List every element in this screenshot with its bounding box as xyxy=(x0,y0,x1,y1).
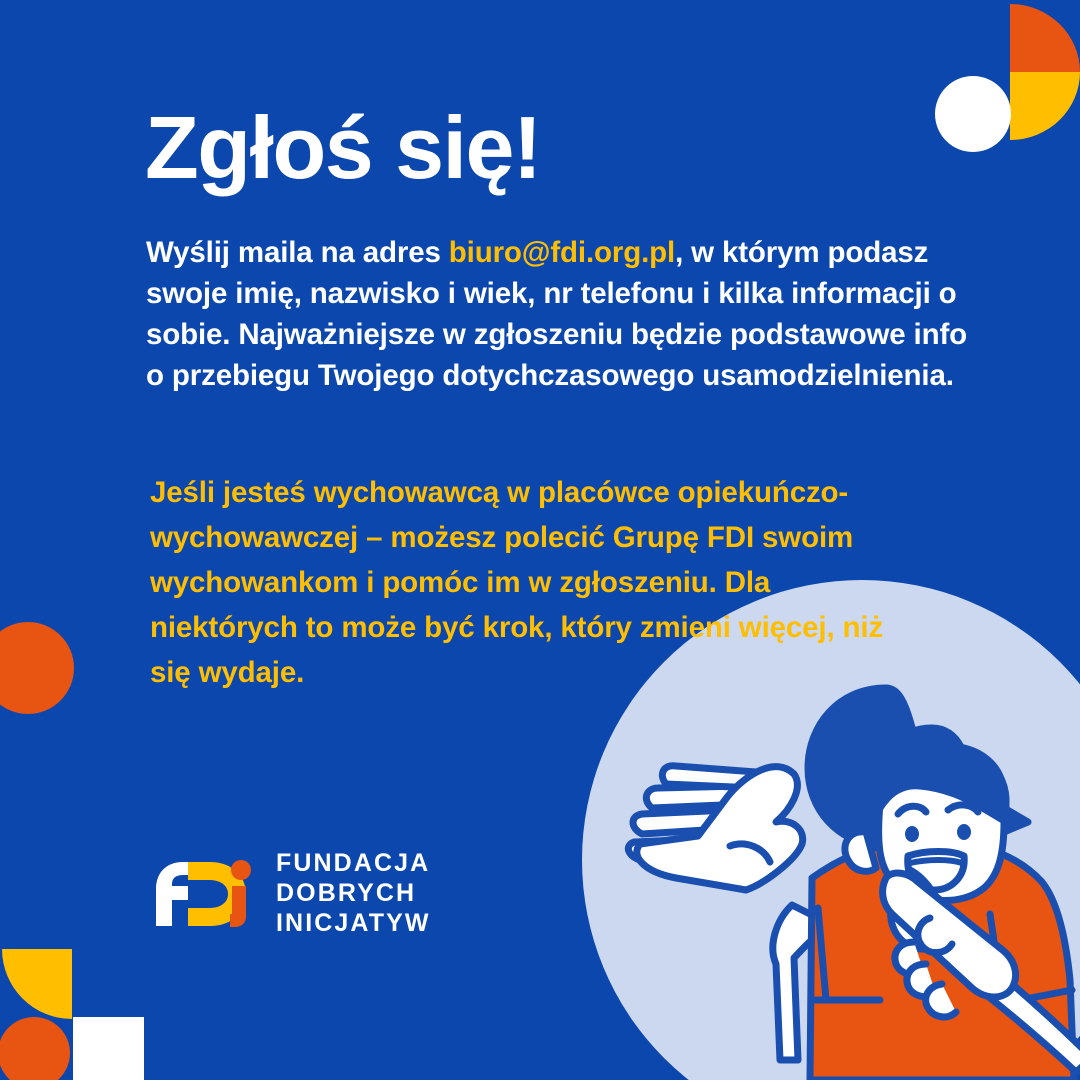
fdi-logo: FUNDACJA DOBRYCH INICJATYW xyxy=(152,848,431,938)
left-orange-circle-icon xyxy=(0,622,74,714)
top-right-orange-quarter-circle-icon xyxy=(1010,4,1080,72)
right-eye xyxy=(957,824,971,840)
bottom-left-yellow-quarter-circle-icon xyxy=(2,949,72,1019)
logo-line-1: FUNDACJA xyxy=(276,848,431,878)
fdi-logo-wordmark: FUNDACJA DOBRYCH INICJATYW xyxy=(276,848,431,938)
fdi-logo-mark-icon xyxy=(152,856,258,930)
page-title: Zgłoś się! xyxy=(145,104,541,192)
logo-line-2: DOBRYCH xyxy=(276,878,431,908)
mouth-teeth-line xyxy=(910,860,962,863)
intro-paragraph: Wyślij maila na adres biuro@fdi.org.pl, … xyxy=(146,232,976,396)
top-right-white-circle-icon xyxy=(935,76,1011,152)
bottom-left-white-square-icon xyxy=(73,1017,144,1080)
logo-line-3: INICJATYW xyxy=(276,908,431,938)
left-eye xyxy=(905,826,919,842)
hair-tip xyxy=(1004,808,1028,832)
bottom-left-orange-circle-icon xyxy=(0,1017,70,1080)
poster-canvas: Zgłoś się! Wyślij maila na adres biuro@f… xyxy=(0,0,1080,1080)
teacher-note-paragraph: Jeśli jesteś wychowawcą w placówce opiek… xyxy=(150,470,910,695)
intro-text-before-email: Wyślij maila na adres xyxy=(146,236,449,269)
top-right-yellow-quarter-circle-icon xyxy=(1010,72,1080,140)
contact-email[interactable]: biuro@fdi.org.pl xyxy=(449,236,675,269)
